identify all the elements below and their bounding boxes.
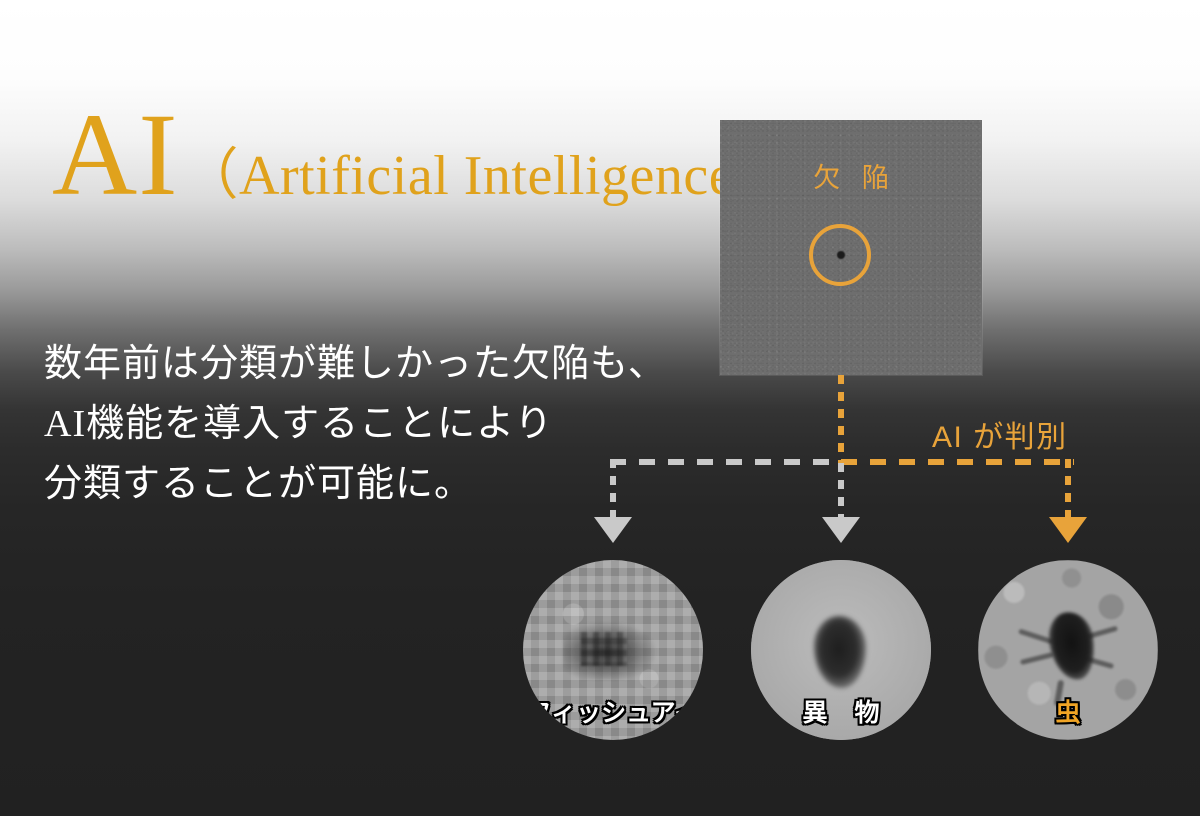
body-line-1: 数年前は分類が難しかった欠陥も、	[44, 334, 667, 394]
connector-vertical-center	[838, 463, 844, 521]
defect-spot	[837, 251, 845, 259]
title-main: AI	[52, 96, 179, 214]
defect-label: 欠 陥	[720, 156, 982, 195]
title-subtitle: （Artificial Intelligence）	[183, 148, 791, 204]
result-label-foreign-object: 異 物	[751, 701, 931, 726]
body-paragraph: 数年前は分類が難しかった欠陥も、 AI機能を導入することにより 分類することが可…	[44, 334, 667, 514]
result-circle-foreign-object: 異 物	[751, 560, 931, 740]
result-label-insect: 虫	[978, 701, 1158, 726]
connector-horizontal-right	[841, 459, 1074, 465]
connector-vertical-from-panel	[838, 375, 844, 463]
body-line-2: AI機能を導入することにより	[44, 394, 667, 454]
defect-source-image: 欠 陥	[720, 120, 982, 375]
page-title: AI （Artificial Intelligence）	[52, 96, 791, 214]
arrow-down-icon-center	[822, 517, 860, 543]
result-circle-fisheye: フィッシュアイ	[523, 560, 703, 740]
result-circle-insect: 虫	[978, 560, 1158, 740]
connector-vertical-right	[1065, 459, 1071, 521]
arrow-down-icon-right	[1049, 517, 1087, 543]
result-label-fisheye: フィッシュアイ	[523, 701, 703, 726]
ai-judge-label: AI が判別	[932, 412, 1068, 456]
slide-canvas: AI （Artificial Intelligence） 数年前は分類が難しかっ…	[0, 0, 1200, 816]
result-defect-blob-fisheye	[563, 622, 655, 680]
arrow-down-icon-left	[594, 517, 632, 543]
body-line-3: 分類することが可能に。	[44, 454, 667, 514]
